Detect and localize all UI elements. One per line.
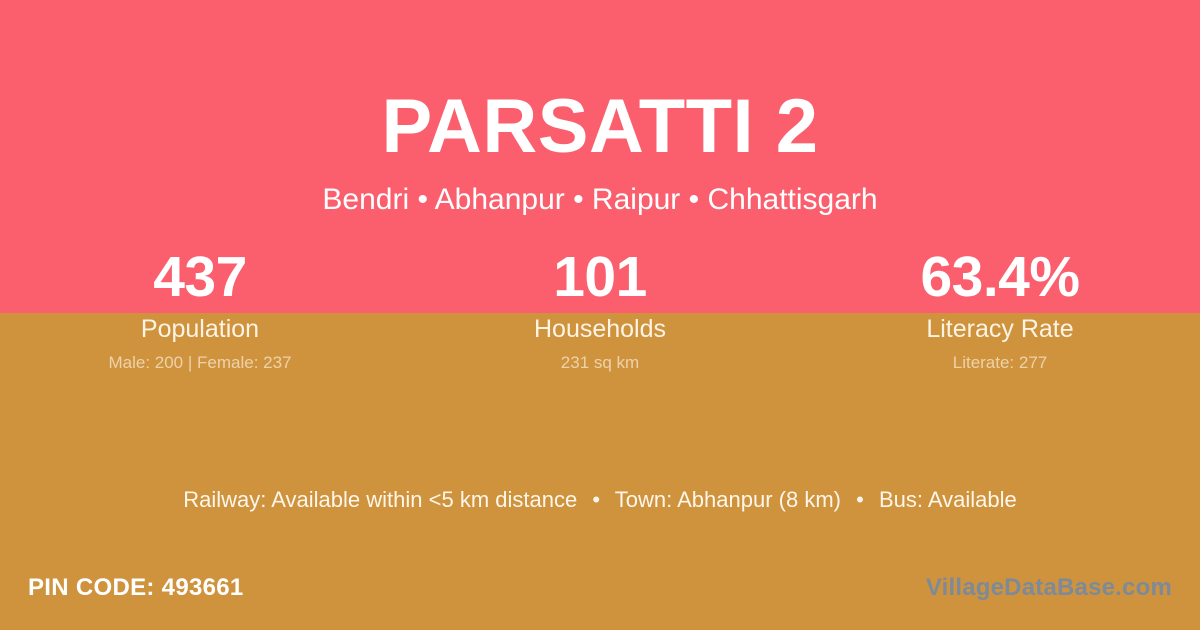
stat-sub-detail: Literate: 277 xyxy=(800,352,1200,374)
site-watermark: VillageDataBase.com xyxy=(926,573,1172,603)
page-title: PARSATTI 2 xyxy=(0,79,1200,175)
pin-code-label: PIN CODE: 493661 xyxy=(28,573,244,603)
amenities-line: Railway: Available within <5 km distance… xyxy=(0,485,1200,515)
breadcrumb: Bendri • Abhanpur • Raipur • Chhattisgar… xyxy=(0,181,1200,219)
stat-value: 101 xyxy=(400,244,800,310)
stat-value: 63.4% xyxy=(800,244,1200,310)
stat-label: Literacy Rate xyxy=(800,314,1200,344)
stat-households: 101 Households 231 sq km xyxy=(400,244,800,374)
amenity-separator: • xyxy=(583,485,609,515)
stat-literacy-rate: 63.4% Literacy Rate Literate: 277 xyxy=(800,244,1200,374)
amenity-separator: • xyxy=(847,485,873,515)
village-info-card: PARSATTI 2 Bendri • Abhanpur • Raipur • … xyxy=(0,0,1200,630)
card-footer: PIN CODE: 493661 VillageDataBase.com xyxy=(0,573,1200,617)
statistics-row: 437 Population Male: 200 | Female: 237 1… xyxy=(0,244,1200,374)
stat-label: Population xyxy=(0,314,400,344)
amenity-railway: Railway: Available within <5 km distance xyxy=(183,487,577,512)
stat-population: 437 Population Male: 200 | Female: 237 xyxy=(0,244,400,374)
amenity-town: Town: Abhanpur (8 km) xyxy=(615,487,841,512)
stat-sub-detail: 231 sq km xyxy=(400,352,800,374)
stat-value: 437 xyxy=(0,244,400,310)
stat-label: Households xyxy=(400,314,800,344)
stat-sub-detail: Male: 200 | Female: 237 xyxy=(0,352,400,374)
amenity-bus: Bus: Available xyxy=(879,487,1017,512)
